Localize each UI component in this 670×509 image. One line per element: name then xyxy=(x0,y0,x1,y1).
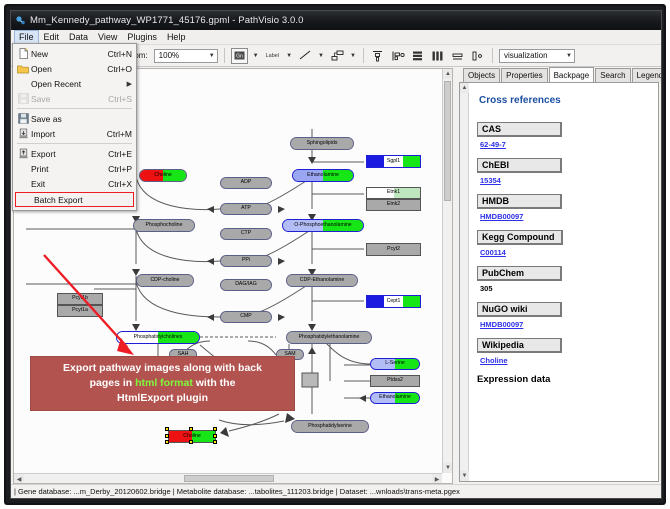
node-label: O-Phosphoethanolamine xyxy=(294,223,351,228)
node-label: Choline xyxy=(183,434,201,439)
node-label: Sphingolipids xyxy=(307,141,338,146)
sidebar-vertical-scrollbar[interactable]: ▲ ▼ xyxy=(460,83,469,481)
window-title: Mm_Kennedy_pathway_WP1771_45176.gpml - P… xyxy=(30,15,304,26)
align-top-icon[interactable] xyxy=(370,48,386,64)
menu-edit[interactable]: Edit xyxy=(39,30,65,44)
file-menu-item-batch-export[interactable]: Batch Export xyxy=(15,192,134,207)
align-left-icon[interactable] xyxy=(390,48,406,64)
node-label: Ptdss2 xyxy=(387,378,403,383)
node-label: CDP-choline xyxy=(150,278,179,283)
stack-vertical-icon[interactable] xyxy=(410,48,426,64)
node-label: DAG/IAG xyxy=(235,282,257,287)
pathway-node-dag-iag[interactable]: DAG/IAG xyxy=(220,279,272,291)
node-label: Ethanolamine xyxy=(379,395,411,400)
order-icon[interactable] xyxy=(450,48,466,64)
xref-link-text-hmdb[interactable]: HMDB00097 xyxy=(480,212,523,221)
pathway-node-etnk2[interactable]: Etnk2 xyxy=(366,199,421,211)
visualization-combo[interactable]: visualization ▼ xyxy=(499,49,575,63)
node-label: Etnk1 xyxy=(387,190,400,195)
node-label: Phosphatidylserine xyxy=(308,424,352,429)
node-label: ADP xyxy=(241,180,252,185)
pathway-node-cdp-choline[interactable]: CDP-choline xyxy=(136,274,194,287)
node-label: Sgpl1 xyxy=(387,159,400,164)
save-as-icon xyxy=(15,113,31,124)
xref-link-text-kegg-compound[interactable]: C00114 xyxy=(480,248,506,257)
line-dropdown-arrow-icon[interactable]: ▼ xyxy=(317,53,325,59)
node-label: Etnk2 xyxy=(387,202,400,207)
tab-objects[interactable]: Objects xyxy=(463,68,500,82)
file-menu-item-print[interactable]: PrintCtrl+P xyxy=(13,161,136,176)
label-dropdown-arrow-icon[interactable]: ▼ xyxy=(285,53,293,59)
pathway-node-cdp-ethanolamine[interactable]: CDP-Ethanolamine xyxy=(286,274,358,287)
annot-line2b: with the xyxy=(193,377,236,389)
label-button[interactable]: Label xyxy=(264,48,281,64)
xref-block-hmdb: HMDBHMDB00097 xyxy=(477,194,652,221)
node-label: Pcyt1b xyxy=(72,296,88,301)
pathway-node-phosphatidylethanolamine[interactable]: Phosphatidylethanolamine xyxy=(286,331,372,344)
sidebar-scroll-up-icon[interactable]: ▲ xyxy=(460,83,469,93)
selection-handle-2[interactable] xyxy=(213,427,217,431)
cross-references-title: Cross references xyxy=(479,95,652,106)
file-menu-label-export: Export xyxy=(31,149,102,159)
annot-line1: Export pathway images along with back xyxy=(63,362,262,374)
pathway-node-pcyt2[interactable]: Pcyt2 xyxy=(366,243,421,256)
selection-handle-5[interactable] xyxy=(165,440,169,444)
scroll-up-arrow-icon[interactable]: ▲ xyxy=(443,69,453,79)
selection-handle-7[interactable] xyxy=(213,440,217,444)
node-label: CTP xyxy=(241,231,251,236)
file-menu-label-print: Print xyxy=(31,164,102,174)
file-menu-label-save: Save xyxy=(31,94,102,104)
node-label: Ethanolamine xyxy=(307,173,339,178)
file-menu-label-open: Open xyxy=(31,64,101,74)
xref-link-cas[interactable]: 62-49-7 xyxy=(480,140,652,149)
pathvisio-icon xyxy=(15,15,26,26)
annot-line2a: pages in xyxy=(90,377,136,389)
canvas-vertical-scrollbar[interactable]: ▲ ▼ xyxy=(442,69,452,473)
node-label: L-Serine xyxy=(385,361,405,366)
xref-block-pubchem: PubChem305 xyxy=(477,266,652,293)
scroll-right-arrow-icon[interactable]: ▶ xyxy=(432,474,442,484)
file-menu-accel-new: Ctrl+N xyxy=(102,49,132,59)
toolbar-separator xyxy=(224,48,225,63)
file-menu-dropdown[interactable]: NewCtrl+NOpenCtrl+OOpen Recent▶SaveCtrl+… xyxy=(12,43,137,211)
xref-link-kegg-compound[interactable]: C00114 xyxy=(480,248,652,257)
file-menu-separator xyxy=(17,143,132,144)
pathway-node-pcyt1a[interactable]: Pcyt1a xyxy=(57,305,103,317)
group-icon[interactable] xyxy=(470,48,486,64)
visualization-value: visualization xyxy=(504,51,548,60)
menu-view[interactable]: View xyxy=(93,30,122,44)
xref-header-kegg-compound: Kegg Compound xyxy=(477,230,563,245)
tab-legend[interactable]: Legend xyxy=(632,68,662,82)
menu-file[interactable]: File xyxy=(14,30,39,44)
tab-backpage[interactable]: Backpage xyxy=(549,67,595,82)
pathway-node-atp[interactable]: ATP xyxy=(220,203,272,215)
title-bar: Mm_Kennedy_pathway_WP1771_45176.gpml - P… xyxy=(11,11,661,30)
node-label: Cept1 xyxy=(387,299,401,304)
selection-handle-3[interactable] xyxy=(165,434,169,438)
file-menu-item-open[interactable]: OpenCtrl+O xyxy=(13,61,136,76)
xref-link-hmdb[interactable]: HMDB00097 xyxy=(480,212,652,221)
cross-reference-list: CAS62-49-7ChEBI15354HMDBHMDB00097Kegg Co… xyxy=(477,122,652,365)
expression-data-title: Expression data xyxy=(477,374,652,385)
xref-link-chebi[interactable]: 15354 xyxy=(480,176,652,185)
pathway-node-adp[interactable]: ADP xyxy=(220,177,272,189)
file-menu-label-new: New xyxy=(31,49,102,59)
status-bar: | Gene database: ...m_Derby_20120602.bri… xyxy=(11,484,661,498)
save-disk-icon xyxy=(15,93,31,104)
xref-header-cas: CAS xyxy=(477,122,562,137)
file-menu-label-import: Import xyxy=(31,129,101,139)
selection-handle-0[interactable] xyxy=(165,427,169,431)
file-menu-accel-export: Ctrl+E xyxy=(102,149,132,159)
backpage-content: Cross references CAS62-49-7ChEBI15354HMD… xyxy=(469,83,658,481)
datanode-dropdown-arrow-icon[interactable]: ▼ xyxy=(252,53,260,59)
toolbar-separator-3 xyxy=(492,48,493,63)
import-icon xyxy=(15,128,31,139)
file-menu-item-save[interactable]: SaveCtrl+S xyxy=(13,91,136,106)
backpage-panel: ▲ ▼ Cross references CAS62-49-7ChEBI1535… xyxy=(459,82,659,482)
toolbar-separator-2 xyxy=(363,48,364,63)
status-text: | Gene database: ...m_Derby_20120602.bri… xyxy=(14,487,460,496)
pathway-node-phosphatidylcholines[interactable]: Phosphatidylcholines xyxy=(116,331,200,344)
pathway-node-l-serine[interactable]: L-Serine xyxy=(370,358,420,370)
pathway-node-o-phosphoethanolamine[interactable]: O-Phosphoethanolamine xyxy=(282,219,364,232)
pathway-node-cmp[interactable]: CMP xyxy=(220,311,272,323)
xref-link-text-chebi[interactable]: 15354 xyxy=(480,176,501,185)
right-sidebar: Objects Properties Backpage Search Legen… xyxy=(453,67,661,484)
new-file-icon xyxy=(15,48,31,59)
pathway-node-cept1[interactable]: Cept1 xyxy=(366,295,421,308)
file-menu-item-exit[interactable]: ExitCtrl+X xyxy=(13,176,136,191)
pathway-node-ethanolamine-top[interactable]: Ethanolamine xyxy=(292,169,354,182)
shape-icon[interactable] xyxy=(329,48,345,64)
node-label: Phosphatidylethanolamine xyxy=(299,335,360,340)
xref-block-nugo-wiki: NuGO wikiHMDB00097 xyxy=(477,302,652,329)
canvas-horizontal-scrollbar[interactable]: ◀ ▶ xyxy=(14,473,442,483)
xref-block-cas: CAS62-49-7 xyxy=(477,122,652,149)
node-label: PPi xyxy=(242,258,250,263)
tab-properties[interactable]: Properties xyxy=(501,68,547,82)
annot-highlight: html format xyxy=(135,377,193,389)
scroll-left-arrow-icon[interactable]: ◀ xyxy=(14,474,24,484)
xref-block-chebi: ChEBI15354 xyxy=(477,158,652,185)
xref-value-pubchem: 305 xyxy=(480,284,652,293)
file-menu-label-exit: Exit xyxy=(31,179,102,189)
pathway-node-sphingolipids[interactable]: Sphingolipids xyxy=(290,137,354,150)
xref-header-hmdb: HMDB xyxy=(477,194,562,209)
svg-text:Gn: Gn xyxy=(236,53,243,59)
label-button-text: Label xyxy=(266,53,279,59)
submenu-arrow-icon: ▶ xyxy=(127,80,132,88)
xref-header-pubchem: PubChem xyxy=(477,266,562,281)
xref-header-chebi: ChEBI xyxy=(477,158,562,173)
node-label: Phosphocholine xyxy=(146,223,183,228)
xref-block-wikipedia: WikipediaCholine xyxy=(477,338,652,365)
file-menu-separator xyxy=(17,108,132,109)
open-folder-icon xyxy=(15,64,31,74)
menu-plugins[interactable]: Plugins xyxy=(122,30,162,44)
file-menu-accel-save: Ctrl+S xyxy=(102,94,132,104)
export-icon xyxy=(15,148,31,159)
pathway-node-ethanolamine-bot[interactable]: Ethanolamine xyxy=(370,392,420,404)
datanode-icon[interactable]: Gn xyxy=(231,48,248,64)
file-menu-label-batch-export: Batch Export xyxy=(34,195,129,205)
file-menu-accel-open: Ctrl+O xyxy=(101,64,132,74)
node-label: CDP-Ethanolamine xyxy=(300,278,344,283)
pathway-node-choline-top[interactable]: Choline xyxy=(139,169,187,182)
horizontal-scroll-thumb[interactable] xyxy=(184,475,274,482)
file-menu-item-import[interactable]: ImportCtrl+M xyxy=(13,126,136,141)
file-menu-accel-import: Ctrl+M xyxy=(101,129,132,139)
file-menu-accel-exit: Ctrl+X xyxy=(102,179,132,189)
scroll-down-arrow-icon[interactable]: ▼ xyxy=(443,463,453,473)
vertical-scroll-thumb[interactable] xyxy=(444,81,451,201)
node-label: Pcyt2 xyxy=(387,247,400,252)
file-menu-item-new[interactable]: NewCtrl+N xyxy=(13,46,136,61)
node-label: Pcyt1a xyxy=(72,308,88,313)
pathway-node-ctp[interactable]: CTP xyxy=(220,228,272,240)
pathway-node-etnk1[interactable]: Etnk1 xyxy=(366,187,421,199)
distribute-icon[interactable] xyxy=(430,48,446,64)
menu-help[interactable]: Help xyxy=(162,30,191,44)
chevron-down-icon-2: ▼ xyxy=(566,53,572,59)
sidebar-scroll-down-icon[interactable]: ▼ xyxy=(460,471,469,481)
line-icon[interactable] xyxy=(297,48,313,64)
file-menu-accel-print: Ctrl+P xyxy=(102,164,132,174)
file-menu-label-open-recent: Open Recent xyxy=(31,79,127,89)
pathway-node-ptdss2[interactable]: Ptdss2 xyxy=(370,375,420,387)
xref-link-text-wikipedia[interactable]: Choline xyxy=(480,356,508,365)
shape-dropdown-arrow-icon[interactable]: ▼ xyxy=(349,53,357,59)
tab-search[interactable]: Search xyxy=(595,68,630,82)
sidebar-tabs: Objects Properties Backpage Search Legen… xyxy=(455,67,661,82)
file-menu-item-export[interactable]: ExportCtrl+E xyxy=(13,146,136,161)
node-label: Phosphatidylcholines xyxy=(134,335,183,340)
pathway-node-phosphocholine[interactable]: Phosphocholine xyxy=(133,219,195,232)
pathway-node-phosphatidylserine[interactable]: Phosphatidylserine xyxy=(291,420,369,433)
node-label: Choline xyxy=(154,173,172,178)
selection-handle-6[interactable] xyxy=(189,440,193,444)
menu-data[interactable]: Data xyxy=(64,30,93,44)
pathway-node-pcyt1b[interactable]: Pcyt1b xyxy=(57,293,103,305)
file-menu-label-save-as: Save as xyxy=(31,114,132,124)
xref-link-nugo-wiki[interactable]: HMDB00097 xyxy=(480,320,652,329)
xref-link-text-nugo-wiki[interactable]: HMDB00097 xyxy=(480,320,523,329)
xref-block-kegg-compound: Kegg CompoundC00114 xyxy=(477,230,652,257)
annotation-callout: Export pathway images along with back pa… xyxy=(30,356,295,411)
file-menu-item-open-recent[interactable]: Open Recent▶ xyxy=(13,76,136,91)
xref-link-wikipedia[interactable]: Choline xyxy=(480,356,652,365)
annot-line3: HtmlExport plugin xyxy=(117,392,208,404)
zoom-value: 100% xyxy=(159,51,179,60)
pathway-node-pfi[interactable]: PPi xyxy=(220,255,272,267)
screenshot-root: Mm_Kennedy_pathway_WP1771_45176.gpml - P… xyxy=(0,0,670,509)
file-menu-item-save-as[interactable]: Save as xyxy=(13,111,136,126)
xref-link-text-cas[interactable]: 62-49-7 xyxy=(480,140,506,149)
chevron-down-icon: ▼ xyxy=(209,53,215,59)
node-label: ATP xyxy=(241,206,251,211)
xref-header-wikipedia: Wikipedia xyxy=(477,338,562,353)
selection-handle-1[interactable] xyxy=(189,427,193,431)
node-label: CMP xyxy=(240,314,252,319)
xref-header-nugo-wiki: NuGO wiki xyxy=(477,302,562,317)
zoom-combo[interactable]: 100% ▼ xyxy=(154,49,218,63)
pathway-node-sgpl1[interactable]: Sgpl1 xyxy=(366,155,421,168)
selection-handle-4[interactable] xyxy=(213,434,217,438)
